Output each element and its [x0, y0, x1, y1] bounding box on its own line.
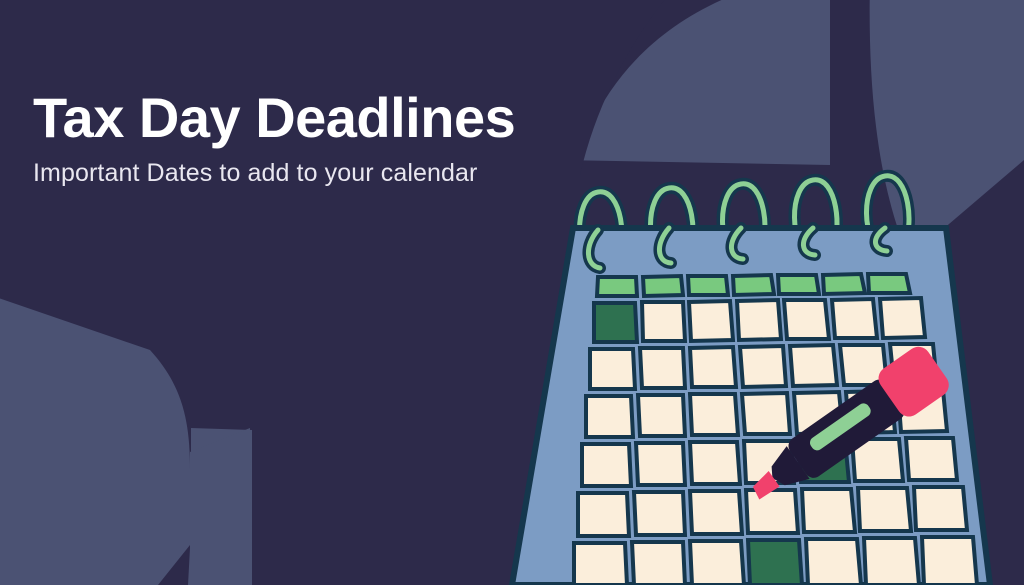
calendar-day-cell [864, 538, 919, 585]
calendar-day-cell [690, 442, 740, 484]
calendar-day-cell [742, 393, 790, 434]
calendar-week-row [578, 487, 967, 536]
calendar-day-cell-marked [748, 540, 802, 585]
calendar-day-cell [638, 395, 685, 436]
calendar-day-cell [642, 302, 685, 341]
calendar-day-cell [737, 300, 781, 340]
calendar-day-cell [690, 491, 742, 534]
calendar-day-cell [806, 539, 861, 585]
calendar-header-cell [597, 277, 637, 296]
page-title: Tax Day Deadlines [33, 88, 653, 148]
calendar-day-cell-marked [594, 303, 637, 342]
calendar-day-cell [582, 444, 631, 486]
calendar-day-cell [802, 489, 855, 532]
calendar-day-cell [690, 541, 744, 585]
calendar-day-cell [832, 299, 877, 338]
calendar-day-cell [914, 487, 967, 530]
calendar-day-cell [586, 396, 633, 437]
calendar-header-row [597, 274, 910, 296]
calendar-header-cell [778, 275, 819, 294]
calendar-day-cell [590, 349, 635, 389]
page-subtitle: Important Dates to add to your calendar [33, 158, 653, 188]
calendar-day-cell [574, 543, 627, 585]
calendar-day-cell [740, 346, 786, 387]
calendar-header-cell [643, 276, 683, 296]
calendar-header-cell [733, 275, 774, 295]
calendar-week-row [574, 537, 977, 585]
calendar-day-cell [906, 438, 957, 480]
hero-text-block: Tax Day Deadlines Important Dates to add… [33, 88, 653, 188]
tax-day-deadlines-banner: Tax Day Deadlines Important Dates to add… [0, 0, 1024, 585]
calendar-day-cell [690, 347, 736, 387]
calendar-day-cell [632, 542, 685, 585]
calendar-day-cell [636, 443, 685, 485]
calendar-header-cell [688, 276, 728, 295]
calendar-day-cell [689, 301, 733, 341]
calendar-day-cell [634, 492, 685, 535]
calendar-day-cell [784, 300, 829, 339]
calendar-week-row [594, 298, 925, 342]
calendar-day-cell [690, 394, 738, 435]
calendar-header-cell [868, 274, 910, 293]
calendar-header-cell [823, 274, 865, 294]
calendar-day-cell [880, 298, 925, 338]
calendar-day-cell [578, 493, 629, 536]
calendar-day-cell [790, 345, 837, 386]
calendar-day-cell [858, 488, 911, 531]
calendar-day-cell [922, 537, 977, 585]
calendar-day-cell [640, 348, 685, 388]
calendar-day-cell [746, 490, 798, 533]
